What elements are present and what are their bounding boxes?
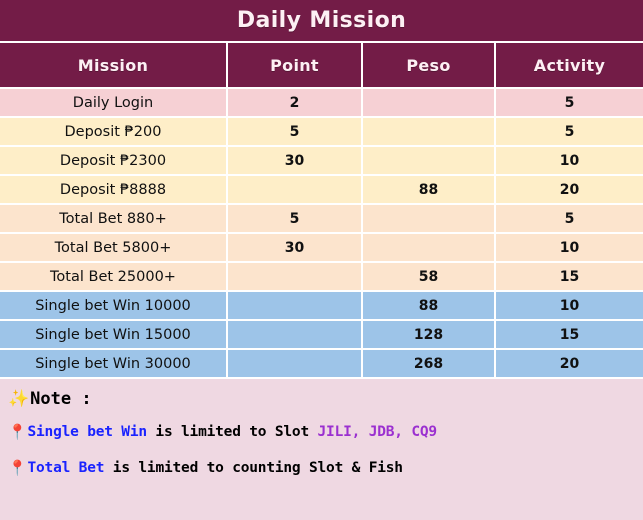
table-row: Daily Login25 <box>0 88 643 117</box>
cell-activity: 10 <box>495 291 643 320</box>
cell-peso <box>362 117 495 146</box>
table-body: Daily Login25Deposit ₱20055Deposit ₱2300… <box>0 88 643 378</box>
cell-activity: 20 <box>495 175 643 204</box>
daily-mission-table: Mission Point Peso Activity Daily Login2… <box>0 43 643 379</box>
cell-point <box>227 320 362 349</box>
sparkles-icon: ✨ <box>8 391 29 408</box>
round-pushpin-icon: 📍 <box>8 425 26 440</box>
cell-peso: 128 <box>362 320 495 349</box>
table-row: Deposit ₱23003010 <box>0 146 643 175</box>
cell-point: 5 <box>227 204 362 233</box>
note2-term: Total Bet <box>27 459 104 477</box>
note1-middle: is limited to Slot <box>147 423 318 441</box>
cell-mission: Total Bet 880+ <box>0 204 227 233</box>
cell-mission: Total Bet 25000+ <box>0 262 227 291</box>
cell-point: 2 <box>227 88 362 117</box>
table-row: Total Bet 5800+3010 <box>0 233 643 262</box>
cell-mission: Deposit ₱200 <box>0 117 227 146</box>
page-title: Daily Mission <box>0 0 643 43</box>
cell-peso: 88 <box>362 175 495 204</box>
cell-activity: 15 <box>495 262 643 291</box>
cell-peso <box>362 204 495 233</box>
cell-point: 30 <box>227 233 362 262</box>
note1-brands: JILI, JDB, CQ9 <box>318 423 437 441</box>
table-row: Single bet Win 100008810 <box>0 291 643 320</box>
notes-section: ✨ Note : 📍 Single bet Win is limited to … <box>0 379 643 520</box>
cell-point <box>227 349 362 378</box>
note-item-single-bet-win: 📍 Single bet Win is limited to Slot JILI… <box>8 423 635 441</box>
column-header-point: Point <box>227 43 362 88</box>
cell-activity: 10 <box>495 233 643 262</box>
cell-mission: Single bet Win 15000 <box>0 320 227 349</box>
cell-activity: 5 <box>495 88 643 117</box>
cell-mission: Daily Login <box>0 88 227 117</box>
cell-activity: 5 <box>495 117 643 146</box>
cell-point <box>227 291 362 320</box>
cell-point <box>227 262 362 291</box>
cell-mission: Single bet Win 30000 <box>0 349 227 378</box>
table-row: Single bet Win 3000026820 <box>0 349 643 378</box>
cell-peso: 58 <box>362 262 495 291</box>
note-item-total-bet: 📍 Total Bet is limited to counting Slot … <box>8 459 635 477</box>
table-header: Mission Point Peso Activity <box>0 43 643 88</box>
cell-peso: 268 <box>362 349 495 378</box>
notes-heading-label: Note : <box>30 389 91 409</box>
table-row: Single bet Win 1500012815 <box>0 320 643 349</box>
cell-peso <box>362 146 495 175</box>
note2-middle: is limited to counting Slot & Fish <box>104 459 403 477</box>
notes-heading: ✨ Note : <box>8 389 635 409</box>
cell-peso <box>362 88 495 117</box>
round-pushpin-icon: 📍 <box>8 461 26 476</box>
cell-activity: 5 <box>495 204 643 233</box>
cell-activity: 10 <box>495 146 643 175</box>
table-row: Total Bet 25000+5815 <box>0 262 643 291</box>
cell-point: 30 <box>227 146 362 175</box>
note1-term: Single bet Win <box>27 423 146 441</box>
cell-activity: 15 <box>495 320 643 349</box>
cell-mission: Deposit ₱2300 <box>0 146 227 175</box>
daily-mission-panel: Daily Mission Mission Point Peso Activit… <box>0 0 643 520</box>
cell-point: 5 <box>227 117 362 146</box>
table-header-row: Mission Point Peso Activity <box>0 43 643 88</box>
column-header-mission: Mission <box>0 43 227 88</box>
table-row: Deposit ₱20055 <box>0 117 643 146</box>
cell-peso: 88 <box>362 291 495 320</box>
cell-point <box>227 175 362 204</box>
cell-mission: Total Bet 5800+ <box>0 233 227 262</box>
table-row: Total Bet 880+55 <box>0 204 643 233</box>
cell-mission: Single bet Win 10000 <box>0 291 227 320</box>
column-header-peso: Peso <box>362 43 495 88</box>
column-header-activity: Activity <box>495 43 643 88</box>
cell-peso <box>362 233 495 262</box>
cell-mission: Deposit ₱8888 <box>0 175 227 204</box>
table-row: Deposit ₱88888820 <box>0 175 643 204</box>
cell-activity: 20 <box>495 349 643 378</box>
